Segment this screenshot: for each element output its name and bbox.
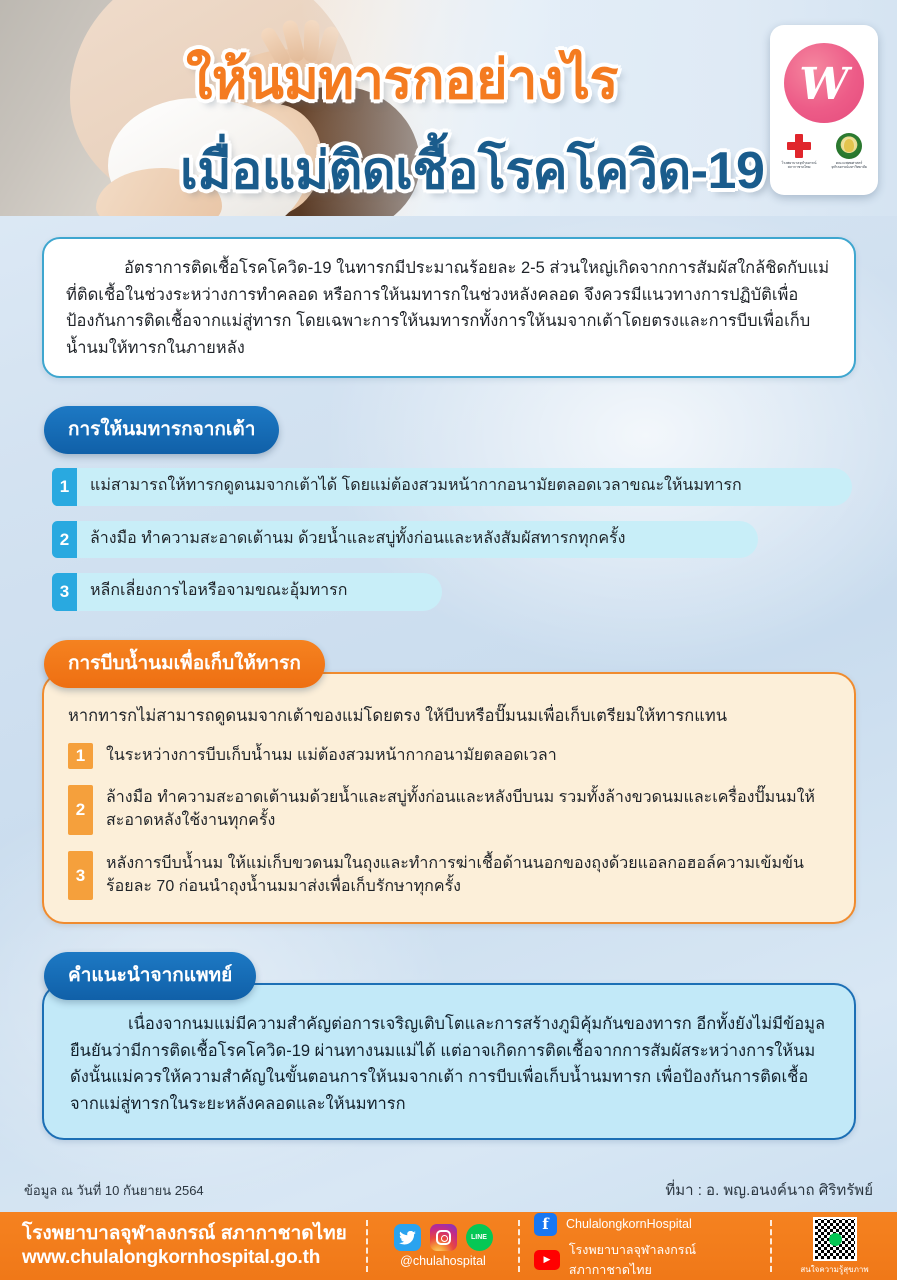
- advice-text: เนื่องจากนมแม่มีความสำคัญต่อการเจริญเติบ…: [70, 1011, 828, 1118]
- hero-banner: ให้นมทารกอย่างไร เมื่อแม่ติดเชื้อโรคโควิ…: [0, 0, 897, 216]
- item-text: ล้างมือ ทำความสะอาดเต้านม ด้วยน้ำและสบู่…: [77, 521, 758, 559]
- red-cross-emblem: โรงพยาบาลจุฬาลงกรณ์ สภากาชาดไทย: [781, 133, 817, 170]
- item-text: แม่สามารถให้ทารกดูดนมจากเต้าได้ โดยแม่ต้…: [77, 468, 852, 506]
- youtube-icon: ▶: [534, 1250, 560, 1270]
- facebook-page-name: ChulalongkornHospital: [566, 1217, 692, 1231]
- footer-channels-block: f ChulalongkornHospital ▶ โรงพยาบาลจุฬาล…: [520, 1213, 770, 1280]
- title-line-1: ให้นมทารกอย่างไร: [186, 36, 618, 122]
- subfooter: ข้อมูล ณ วันที่ 10 กันยายน 2564 ที่มา : …: [0, 1178, 897, 1202]
- instagram-glyph: [436, 1230, 451, 1245]
- infographic-poster: ให้นมทารกอย่างไร เมื่อแม่ติดเชื้อโรคโควิ…: [0, 0, 897, 1280]
- item-text: ในระหว่างการบีบเก็บน้ำนม แม่ต้องสวมหน้าก…: [93, 743, 830, 770]
- item-number: 3: [68, 851, 93, 900]
- hospital-logo-badge: W โรงพยาบาลจุฬาลงกรณ์ สภากาชาดไทย คณะแพท…: [770, 25, 878, 195]
- footer-org-block: โรงพยาบาลจุฬาลงกรณ์ สภากาชาดไทย www.chul…: [0, 1223, 366, 1270]
- logo-emblem-row: โรงพยาบาลจุฬาลงกรณ์ สภากาชาดไทย คณะแพทยศ…: [770, 133, 878, 170]
- item-number: 1: [68, 743, 93, 770]
- pumping-card: หากทารกไม่สามารถดูดนมจากเต้าของแม่โดยตรง…: [42, 672, 856, 924]
- poster-title: ให้นมทารกอย่างไร เมื่อแม่ติดเชื้อโรคโควิ…: [0, 0, 897, 216]
- social-icon-row: LINE: [394, 1224, 493, 1251]
- instagram-icon[interactable]: [430, 1224, 457, 1251]
- item-text: หลีกเลี่ยงการไอหรือจามขณะอุ้มทารก: [77, 573, 442, 611]
- data-date: ข้อมูล ณ วันที่ 10 กันยายน 2564: [24, 1180, 204, 1201]
- item-number: 3: [52, 573, 77, 611]
- section-header-breastfeeding: การให้นมทารกจากเต้า: [44, 406, 279, 454]
- qr-caption: สนใจความรู้สุขภาพ: [800, 1263, 868, 1276]
- faculty-seal-icon: [836, 133, 862, 159]
- list-item: 2 ล้างมือ ทำความสะอาดเต้านมด้วยน้ำและสบู…: [68, 785, 830, 834]
- social-handle: @chulahospital: [400, 1254, 486, 1268]
- faculty-label: คณะแพทยศาสตร์ จุฬาลงกรณ์มหาวิทยาลัย: [831, 161, 867, 170]
- pumping-list: 1 ในระหว่างการบีบเก็บน้ำนม แม่ต้องสวมหน้…: [68, 743, 830, 901]
- footer-bar: โรงพยาบาลจุฬาลงกรณ์ สภากาชาดไทย www.chul…: [0, 1212, 897, 1280]
- twitter-icon[interactable]: [394, 1224, 421, 1251]
- facebook-row[interactable]: f ChulalongkornHospital: [534, 1213, 770, 1236]
- item-number: 2: [52, 521, 77, 559]
- title-line-2: เมื่อแม่ติดเชื้อโรคโควิด-19: [180, 128, 764, 211]
- logo-monogram: W: [784, 43, 864, 123]
- list-item: 3 หลังการบีบน้ำนม ให้แม่เก็บขวดนมในถุงแล…: [68, 851, 830, 900]
- red-cross-label: โรงพยาบาลจุฬาลงกรณ์ สภากาชาดไทย: [781, 161, 817, 170]
- item-number: 1: [52, 468, 77, 506]
- red-cross-icon: [786, 133, 812, 159]
- breastfeeding-list: 1 แม่สามารถให้ทารกดูดนมจากเต้าได้ โดยแม่…: [52, 468, 852, 626]
- section-header-pumping: การบีบน้ำนมเพื่อเก็บให้ทารก: [44, 640, 325, 688]
- footer-qr-block: สนใจความรู้สุขภาพ: [772, 1217, 897, 1276]
- line-icon[interactable]: LINE: [466, 1224, 493, 1251]
- facebook-icon: f: [534, 1213, 557, 1236]
- advice-card: เนื่องจากนมแม่มีความสำคัญต่อการเจริญเติบ…: [42, 983, 856, 1140]
- item-text: หลังการบีบน้ำนม ให้แม่เก็บขวดนมในถุงและท…: [93, 851, 830, 900]
- youtube-row[interactable]: ▶ โรงพยาบาลจุฬาลงกรณ์สภากาชาดไทย: [534, 1240, 770, 1280]
- footer-website-link[interactable]: www.chulalongkornhospital.go.th: [22, 1246, 366, 1270]
- faculty-emblem: คณะแพทยศาสตร์ จุฬาลงกรณ์มหาวิทยาลัย: [831, 133, 867, 170]
- list-item: 1 ในระหว่างการบีบเก็บน้ำนม แม่ต้องสวมหน้…: [68, 743, 830, 770]
- pumping-lead-text: หากทารกไม่สามารถดูดนมจากเต้าของแม่โดยตรง…: [68, 704, 830, 729]
- item-number: 2: [68, 785, 93, 834]
- source-credit: ที่มา : อ. พญ.อนงค์นาถ ศิริทรัพย์: [665, 1178, 873, 1202]
- section-header-advice: คำแนะนำจากแพทย์: [44, 952, 256, 1000]
- intro-box: อัตราการติดเชื้อโรคโควิด-19 ในทารกมีประม…: [42, 237, 856, 378]
- pink-circle-logo-icon: W: [784, 43, 864, 123]
- footer-org-name: โรงพยาบาลจุฬาลงกรณ์ สภากาชาดไทย: [22, 1223, 366, 1246]
- intro-text: อัตราการติดเชื้อโรคโควิด-19 ในทารกมีประม…: [66, 255, 832, 362]
- list-item: 1 แม่สามารถให้ทารกดูดนมจากเต้าได้ โดยแม่…: [52, 468, 852, 506]
- item-text: ล้างมือ ทำความสะอาดเต้านมด้วยน้ำและสบู่ท…: [93, 785, 830, 834]
- footer-social-block: LINE @chulahospital: [368, 1224, 518, 1268]
- qr-code-icon[interactable]: [813, 1217, 857, 1261]
- list-item: 3 หลีกเลี่ยงการไอหรือจามขณะอุ้มทารก: [52, 573, 852, 611]
- list-item: 2 ล้างมือ ทำความสะอาดเต้านม ด้วยน้ำและสบ…: [52, 521, 852, 559]
- youtube-channel-name: โรงพยาบาลจุฬาลงกรณ์สภากาชาดไทย: [569, 1240, 770, 1280]
